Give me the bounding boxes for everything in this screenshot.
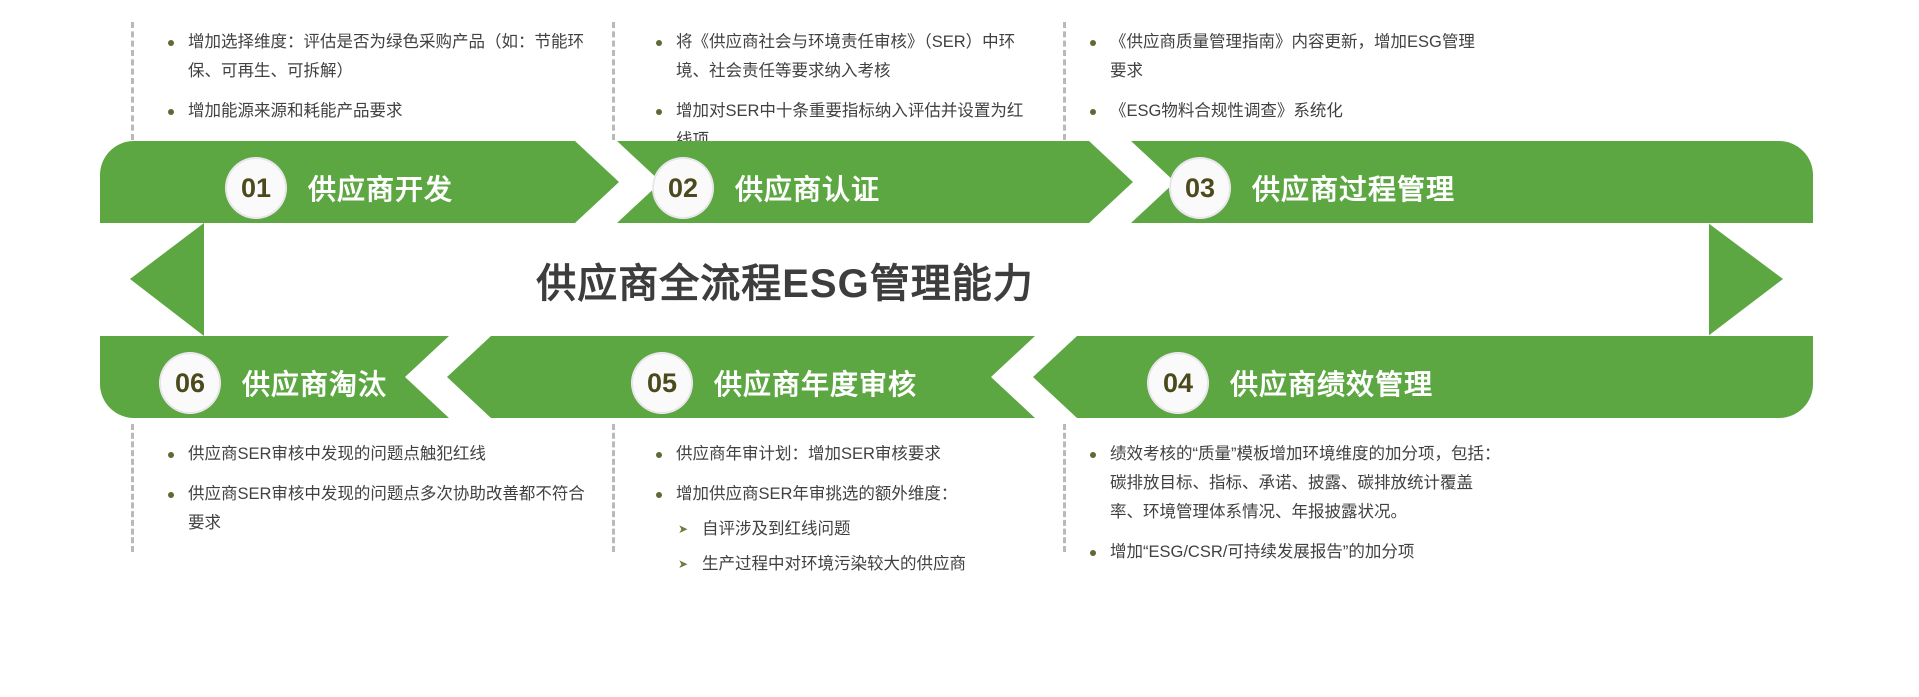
divider-bottom-3: [1063, 424, 1066, 552]
divider-top-2: [612, 22, 615, 140]
stage-item-02[interactable]: 02 供应商认证: [653, 158, 880, 218]
list-item: 《ESG物料合规性调查》系统化: [1082, 97, 1482, 126]
stage-label: 供应商淘汰: [242, 363, 387, 403]
notes-stage-05: 供应商年审计划：增加SER审核要求 增加供应商SER年审挑选的额外维度： 自评涉…: [648, 440, 1048, 585]
list-item: 增加“ESG/CSR/可持续发展报告”的加分项: [1082, 538, 1502, 567]
list-item: 绩效考核的“质量”模板增加环境维度的加分项，包括：碳排放目标、指标、承诺、披露、…: [1082, 440, 1502, 527]
chevron-separator-04-05: [991, 336, 1077, 418]
list-item: 增加选择维度：评估是否为绿色采购产品（如：节能环保、可再生、可拆解）: [160, 28, 600, 86]
stage-label: 供应商开发: [308, 168, 453, 208]
chevron-separator-02-03: [1089, 141, 1175, 223]
list-item: 供应商SER审核中发现的问题点多次协助改善都不符合要求: [160, 480, 600, 538]
stage-number-badge: 03: [1170, 158, 1230, 218]
divider-top-1: [131, 22, 134, 140]
stage-label: 供应商绩效管理: [1230, 363, 1433, 403]
list-item: 供应商年审计划：增加SER审核要求: [648, 440, 1048, 469]
stage-number-badge: 02: [653, 158, 713, 218]
stage-item-01[interactable]: 01 供应商开发: [226, 158, 453, 218]
list-item: 增加能源来源和耗能产品要求: [160, 97, 600, 126]
stage-item-04[interactable]: 04 供应商绩效管理: [1148, 353, 1433, 413]
list-item: 增加供应商SER年审挑选的额外维度： 自评涉及到红线问题 生产过程中对环境污染较…: [648, 480, 1048, 579]
divider-bottom-1: [131, 424, 134, 552]
stage-label: 供应商过程管理: [1252, 168, 1455, 208]
list-item-text: 增加供应商SER年审挑选的额外维度：: [676, 485, 957, 503]
stage-item-06[interactable]: 06 供应商淘汰: [160, 353, 387, 413]
stage-number-badge: 05: [632, 353, 692, 413]
stage-item-05[interactable]: 05 供应商年度审核: [632, 353, 917, 413]
center-title-card: 供应商全流程ESG管理能力: [205, 225, 1365, 335]
chevron-separator-01-02: [575, 141, 661, 223]
list-item: 将《供应商社会与环境责任审核》（SER）中环境、社会责任等要求纳入考核: [648, 28, 1038, 86]
page-title: 供应商全流程ESG管理能力: [536, 251, 1033, 309]
stage-label: 供应商认证: [735, 168, 880, 208]
stage-label: 供应商年度审核: [714, 363, 917, 403]
stage-number-badge: 01: [226, 158, 286, 218]
chevron-separator-05-06: [405, 336, 491, 418]
stage-number-badge: 04: [1148, 353, 1208, 413]
list-item: 供应商SER审核中发现的问题点触犯红线: [160, 440, 600, 469]
notes-stage-06: 供应商SER审核中发现的问题点触犯红线 供应商SER审核中发现的问题点多次协助改…: [160, 440, 600, 549]
divider-top-3: [1063, 22, 1066, 140]
sub-list-item: 自评涉及到红线问题: [676, 515, 1048, 544]
stage-number-badge: 06: [160, 353, 220, 413]
notes-stage-04: 绩效考核的“质量”模板增加环境维度的加分项，包括：碳排放目标、指标、承诺、披露、…: [1082, 440, 1502, 578]
divider-bottom-2: [612, 424, 615, 552]
stage-item-03[interactable]: 03 供应商过程管理: [1170, 158, 1455, 218]
diagram-canvas: 增加选择维度：评估是否为绿色采购产品（如：节能环保、可再生、可拆解） 增加能源来…: [0, 0, 1919, 697]
sub-list-item: 生产过程中对环境污染较大的供应商: [676, 550, 1048, 579]
ring-inner-hole-right: [1469, 223, 1709, 336]
list-item: 《供应商质量管理指南》内容更新，增加ESG管理要求: [1082, 28, 1482, 86]
